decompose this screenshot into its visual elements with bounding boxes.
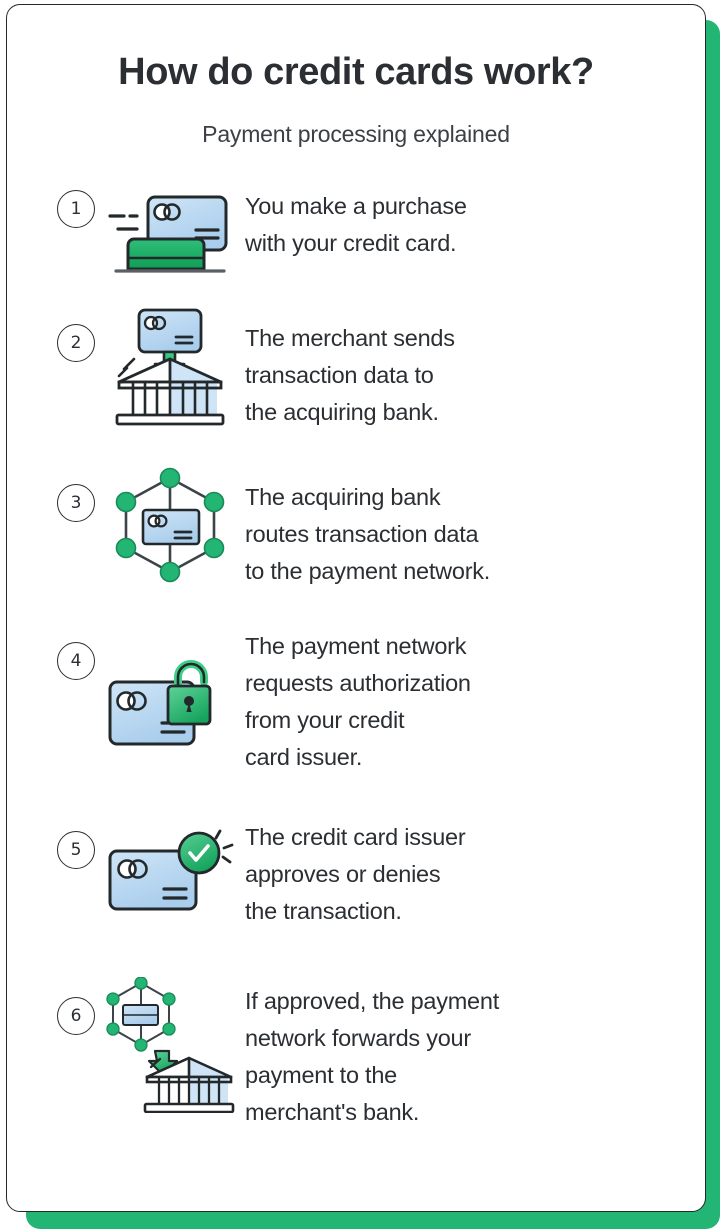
step-number-badge-6: 6 xyxy=(57,997,95,1035)
card-to-bank-arrow-icon xyxy=(95,304,245,432)
step-text-3: The acquiring bank routes transaction da… xyxy=(245,477,683,590)
step-number-badge-2: 2 xyxy=(57,324,95,362)
card-open-padlock-icon xyxy=(95,632,245,760)
step-text-1: You make a purchase with your credit car… xyxy=(245,186,683,262)
step-item-2: 2 xyxy=(57,304,683,454)
page-subtitle: Payment processing explained xyxy=(7,121,705,148)
step-text-5: The credit card issuer approves or denie… xyxy=(245,817,683,930)
step-item-1: 1 xyxy=(57,186,683,294)
steps-list: 1 xyxy=(7,186,705,1152)
step-item-5: 5 xyxy=(57,817,683,967)
infographic-stage: How do credit cards work? Payment proces… xyxy=(0,0,720,1229)
step-number-badge-3: 3 xyxy=(57,484,95,522)
card-approved-check-icon xyxy=(95,817,245,927)
step-item-3: 3 xyxy=(57,464,683,622)
step-number-badge-4: 4 xyxy=(57,642,95,680)
header: How do credit cards work? Payment proces… xyxy=(7,5,705,148)
step-text-4: The payment network requests authorizati… xyxy=(245,626,683,776)
network-to-bank-payment-icon xyxy=(95,977,245,1113)
step-number-badge-5: 5 xyxy=(57,831,95,869)
step-text-2: The merchant sends transaction data to t… xyxy=(245,318,683,431)
page-title: How do credit cards work? xyxy=(7,51,705,94)
step-item-4: 4 xyxy=(57,632,683,807)
step-text-6: If approved, the payment network forward… xyxy=(245,981,683,1131)
network-hexagon-card-icon xyxy=(95,464,245,584)
infographic-card: How do credit cards work? Payment proces… xyxy=(6,4,706,1212)
step-number-badge-1: 1 xyxy=(57,190,95,228)
step-item-6: 6 xyxy=(57,977,683,1152)
card-swipe-reader-icon xyxy=(95,186,245,284)
